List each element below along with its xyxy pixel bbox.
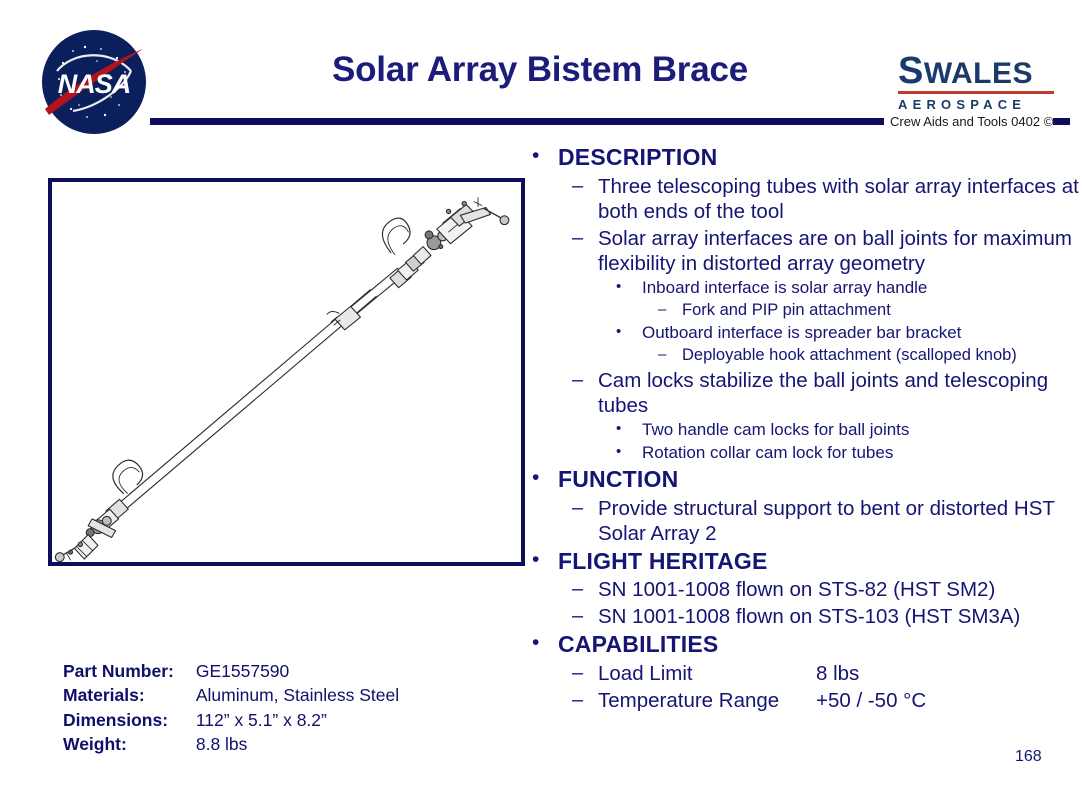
bullet-dash-icon: – (658, 345, 682, 364)
capability-row-load-limit: – Load Limit 8 lbs (528, 661, 1082, 686)
bullet-content: • DESCRIPTION – Three telescoping tubes … (528, 142, 1082, 713)
list-item: • Outboard interface is spreader bar bra… (528, 322, 1082, 344)
list-item: • Rotation collar cam lock for tubes (528, 442, 1082, 464)
spec-value: GE1557590 (196, 660, 399, 684)
list-item-label: Rotation collar cam lock for tubes (642, 442, 1082, 464)
table-row: Part Number: GE1557590 (63, 660, 399, 684)
nasa-logo: NASA (39, 27, 149, 137)
bullet-dot-icon: • (616, 277, 642, 297)
spec-label: Weight: (63, 733, 196, 757)
bullet-dash-icon: – (572, 496, 598, 520)
spec-value: 112” x 5.1” x 8.2” (196, 709, 399, 733)
list-item-label: Cam locks stabilize the ball joints and … (598, 368, 1082, 418)
list-item: – Provide structural support to bent or … (528, 496, 1082, 546)
list-item-label: Two handle cam locks for ball joints (642, 419, 1082, 441)
list-item: – Deployable hook attachment (scalloped … (528, 345, 1082, 366)
list-item: • Inboard interface is solar array handl… (528, 277, 1082, 299)
bullet-dash-icon: – (572, 174, 598, 198)
bullet-dot-icon: • (528, 631, 558, 656)
spec-label: Materials: (63, 684, 196, 708)
bullet-dash-icon: – (572, 661, 598, 685)
spec-value: Aluminum, Stainless Steel (196, 684, 399, 708)
list-item: – Three telescoping tubes with solar arr… (528, 174, 1082, 224)
capability-value: 8 lbs (816, 661, 1082, 686)
bullet-dash-icon: – (572, 226, 598, 250)
spec-label: Dimensions: (63, 709, 196, 733)
table-row: Materials: Aluminum, Stainless Steel (63, 684, 399, 708)
page-title: Solar Array Bistem Brace (230, 50, 850, 90)
slide-canvas: NASA Solar Array Bistem Brace SWALES AER… (0, 0, 1082, 802)
section-heading-label: DESCRIPTION (558, 144, 1082, 172)
bullet-dash-icon: – (572, 368, 598, 392)
swales-wordmark: SWALES (898, 52, 1056, 90)
section-heading-label: CAPABILITIES (558, 631, 1082, 659)
capability-value: +50 / -50 °C (816, 688, 1082, 713)
page-number: 168 (1015, 748, 1042, 766)
list-item-label: Provide structural support to bent or di… (598, 496, 1082, 546)
table-row: Weight: 8.8 lbs (63, 733, 399, 757)
list-item: – Cam locks stabilize the ball joints an… (528, 368, 1082, 418)
list-item: – Fork and PIP pin attachment (528, 300, 1082, 321)
list-item: – SN 1001-1008 flown on STS-103 (HST SM3… (528, 604, 1082, 629)
bullet-dash-icon: – (572, 604, 598, 628)
list-item: – Solar array interfaces are on ball joi… (528, 226, 1082, 276)
bullet-dot-icon: • (528, 548, 558, 573)
section-heading-function: • FUNCTION (528, 466, 1082, 494)
nasa-wordmark: NASA (58, 69, 131, 99)
section-heading-flight-heritage: • FLIGHT HERITAGE (528, 548, 1082, 576)
capability-row-temperature-range: – Temperature Range +50 / -50 °C (528, 688, 1082, 713)
list-item-label: Outboard interface is spreader bar brack… (642, 322, 1082, 344)
list-item: – SN 1001-1008 flown on STS-82 (HST SM2) (528, 577, 1082, 602)
header-caption: Crew Aids and Tools 0402 © (884, 114, 1053, 129)
bullet-dot-icon: • (528, 144, 558, 169)
spec-table-body: Part Number: GE1557590 Materials: Alumin… (63, 660, 399, 758)
section-heading-capabilities: • CAPABILITIES (528, 631, 1082, 659)
section-heading-label: FUNCTION (558, 466, 1082, 494)
list-item-label: SN 1001-1008 flown on STS-82 (HST SM2) (598, 577, 1082, 602)
capability-row-content: Temperature Range +50 / -50 °C (598, 688, 1082, 713)
list-item-label: Three telescoping tubes with solar array… (598, 174, 1082, 224)
list-item-label: Inboard interface is solar array handle (642, 277, 1082, 299)
capability-name: Temperature Range (598, 688, 816, 713)
swales-rest: WALES (924, 57, 1033, 90)
nasa-logo-icon: NASA (39, 27, 149, 137)
bullet-dash-icon: – (572, 688, 598, 712)
section-heading-label: FLIGHT HERITAGE (558, 548, 1082, 576)
table-row: Dimensions: 112” x 5.1” x 8.2” (63, 709, 399, 733)
list-item-label: Deployable hook attachment (scalloped kn… (682, 345, 1082, 366)
swales-initial: S (898, 50, 924, 92)
spec-value: 8.8 lbs (196, 733, 399, 757)
list-item-label: Solar array interfaces are on ball joint… (598, 226, 1082, 276)
bullet-dot-icon: • (528, 466, 558, 491)
bullet-dot-icon: • (616, 322, 642, 342)
list-item: • Two handle cam locks for ball joints (528, 419, 1082, 441)
section-heading-description: • DESCRIPTION (528, 144, 1082, 172)
bullet-dash-icon: – (572, 577, 598, 601)
capability-row-content: Load Limit 8 lbs (598, 661, 1082, 686)
tool-line-drawing (52, 182, 521, 562)
swales-subtitle: AEROSPACE (898, 97, 1056, 112)
capability-name: Load Limit (598, 661, 816, 686)
swales-aerospace-logo: SWALES AEROSPACE (898, 52, 1056, 108)
spec-label: Part Number: (63, 660, 196, 684)
specifications-table: Part Number: GE1557590 Materials: Alumin… (63, 660, 399, 758)
bullet-dash-icon: – (658, 300, 682, 319)
bullet-dot-icon: • (616, 442, 642, 462)
bullet-dot-icon: • (616, 419, 642, 439)
list-item-label: SN 1001-1008 flown on STS-103 (HST SM3A) (598, 604, 1082, 629)
tool-image-box (48, 178, 525, 566)
list-item-label: Fork and PIP pin attachment (682, 300, 1082, 321)
